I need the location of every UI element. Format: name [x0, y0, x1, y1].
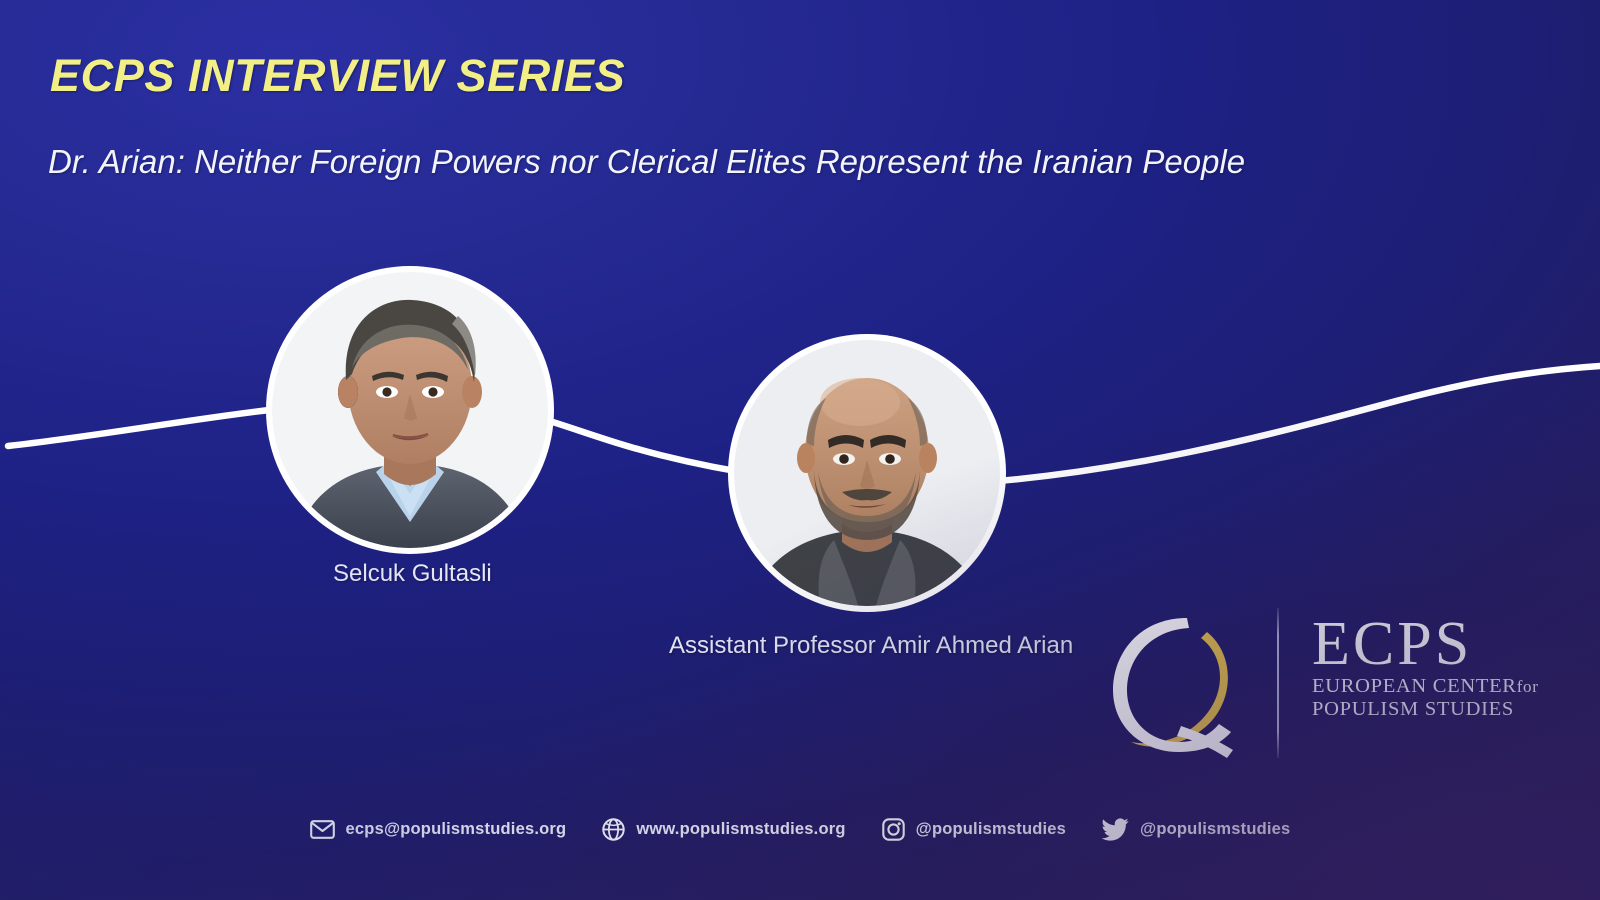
avatar-amir-ahmed-arian [734, 340, 1000, 606]
logo-wordmark: ECPS EUROPEAN CENTERfor POPULISM STUDIES [1312, 614, 1539, 721]
person-name-2: Assistant Professor Amir Ahmed Arian [669, 632, 1073, 660]
instagram-icon [882, 818, 905, 841]
contact-email[interactable]: ecps@populismstudies.org [310, 820, 567, 839]
twitter-icon [1102, 818, 1129, 841]
avatar-selcuk-gultasli [272, 272, 548, 548]
globe-icon [602, 818, 625, 841]
portrait-illustration-2 [734, 340, 1000, 606]
ecps-q-swoosh-mark [1095, 604, 1265, 764]
contact-website[interactable]: www.populismstudies.org [602, 818, 845, 841]
logo-subtitle-for: for [1517, 677, 1539, 696]
logo-subtitle-line1-text: EUROPEAN CENTER [1312, 675, 1517, 697]
contact-instagram-value: @populismstudies [916, 820, 1066, 839]
portrait-illustration-1 [272, 272, 548, 548]
logo-acronym: ECPS [1312, 614, 1539, 675]
interview-promo-card: ECPS INTERVIEW SERIES Dr. Arian: Neither… [0, 0, 1600, 900]
contact-twitter[interactable]: @populismstudies [1102, 818, 1290, 841]
contact-twitter-value: @populismstudies [1140, 820, 1290, 839]
logo-subtitle-line1: EUROPEAN CENTERfor [1312, 675, 1539, 698]
contact-website-value: www.populismstudies.org [636, 820, 845, 839]
logo-subtitle-line2: POPULISM STUDIES [1312, 698, 1539, 721]
email-icon [310, 820, 335, 839]
contact-instagram[interactable]: @populismstudies [882, 818, 1066, 841]
contact-email-value: ecps@populismstudies.org [346, 820, 567, 839]
footer-contact-bar: ecps@populismstudies.org www.populismstu… [0, 818, 1600, 841]
person-name-1: Selcuk Gultasli [333, 560, 492, 588]
logo-divider [1277, 608, 1279, 758]
